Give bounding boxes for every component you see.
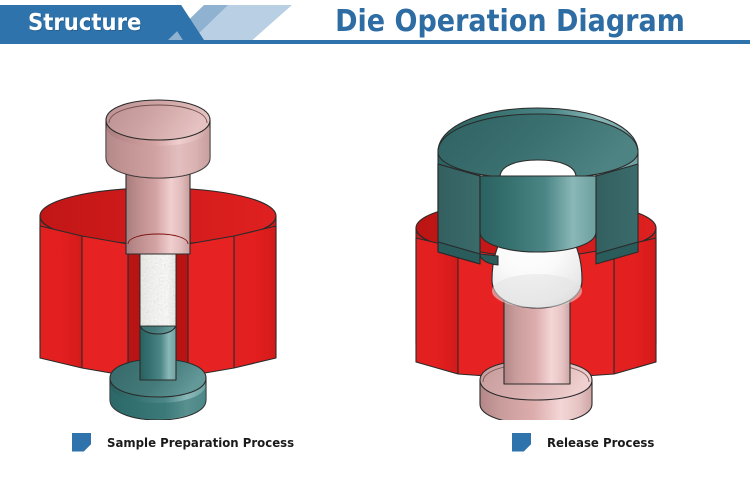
figure-release-process (380, 48, 740, 420)
bullet-marker-icon (512, 433, 531, 452)
figure-sample-preparation (10, 48, 370, 420)
caption-release-process: Release Process (512, 430, 661, 454)
release-cap-teal (438, 108, 638, 265)
section-tab-structure[interactable]: Structure (28, 8, 166, 38)
bullet-marker-icon (72, 433, 91, 452)
slide-header: Structure Die Operation Diagram (0, 0, 750, 48)
caption-label: Sample Preparation Process (107, 435, 294, 450)
caption-label: Release Process (547, 435, 654, 450)
caption-sample-preparation: Sample Preparation Process (72, 430, 306, 454)
powder-sample (140, 252, 176, 326)
page-title: Die Operation Diagram (312, 4, 708, 40)
header-divider (0, 40, 750, 44)
release-process-illustration (380, 48, 740, 420)
slide-canvas: Structure Die Operation Diagram (0, 0, 750, 483)
sample-preparation-illustration (10, 48, 370, 420)
upper-punch-cap-copper (106, 100, 210, 178)
